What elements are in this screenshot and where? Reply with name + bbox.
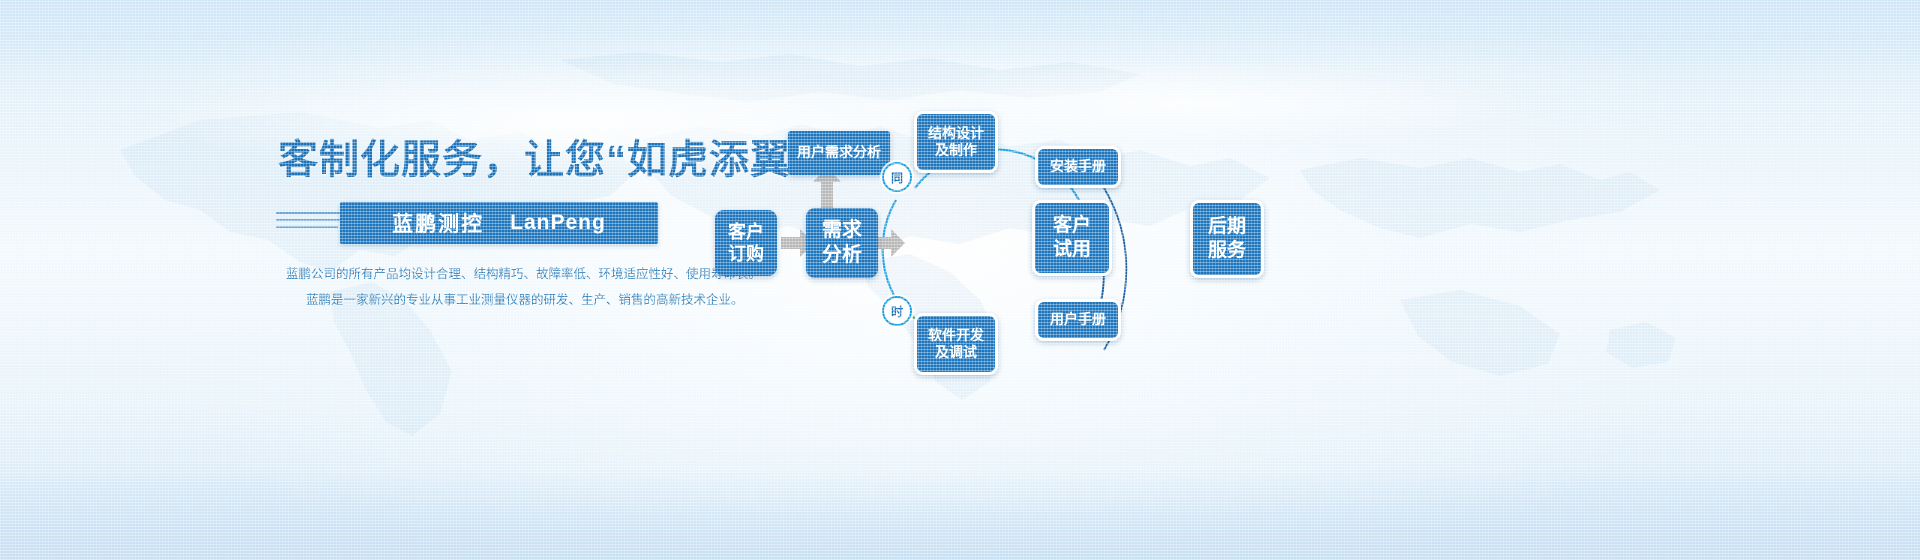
node-label-line2: 试用 bbox=[1053, 238, 1091, 262]
node-label-line2: 及调试 bbox=[935, 344, 977, 362]
bottom-gradient-overlay bbox=[0, 470, 1920, 560]
node-label-line2: 订购 bbox=[728, 243, 764, 266]
node-label-line2: 服务 bbox=[1208, 239, 1246, 263]
brand-bar: 蓝鹏测控 LanPeng bbox=[340, 202, 658, 244]
node-label-line1: 软件开发 bbox=[928, 327, 984, 345]
node-requirement-analysis[interactable]: 需求 分析 bbox=[806, 208, 878, 278]
badge-label: 同 bbox=[891, 169, 903, 186]
badge-tong: 同 bbox=[882, 162, 912, 192]
subtitle-line-2: 蓝鹏是一家新兴的专业从事工业测量仪器的研发、生产、销售的高新技术企业。 bbox=[306, 288, 698, 314]
brand-name-en: LanPeng bbox=[510, 211, 606, 235]
node-label-line1: 客户 bbox=[728, 221, 764, 244]
node-after-service[interactable]: 后期 服务 bbox=[1190, 200, 1264, 278]
node-customer-order[interactable]: 客户 订购 bbox=[715, 210, 777, 276]
node-label-line2: 分析 bbox=[822, 243, 862, 268]
node-customer-trial[interactable]: 客户 试用 bbox=[1032, 200, 1112, 276]
node-user-requirement-analysis[interactable]: 用户需求分析 bbox=[788, 131, 890, 175]
node-label-line1: 结构设计 bbox=[928, 125, 984, 143]
node-label-line1: 需求 bbox=[822, 218, 862, 243]
node-label: 用户需求分析 bbox=[797, 144, 881, 162]
badge-label: 时 bbox=[891, 303, 903, 320]
node-label-line1: 客户 bbox=[1053, 214, 1091, 238]
node-software-development[interactable]: 软件开发 及调试 bbox=[914, 313, 998, 375]
brand-bar-wrapper: 蓝鹏测控 LanPeng bbox=[278, 202, 698, 244]
node-user-manual[interactable]: 用户手册 bbox=[1035, 299, 1121, 341]
node-label-line1: 后期 bbox=[1208, 215, 1246, 239]
promo-banner: 客制化服务，让您“如虎添翼” 蓝鹏测控 LanPeng 蓝鹏公司的所有产品均设计… bbox=[0, 0, 1920, 560]
headline-block: 客制化服务，让您“如虎添翼” 蓝鹏测控 LanPeng 蓝鹏公司的所有产品均设计… bbox=[278, 138, 698, 313]
node-label-line2: 及制作 bbox=[935, 142, 977, 160]
node-label: 用户手册 bbox=[1050, 311, 1106, 329]
page-title: 客制化服务，让您“如虎添翼” bbox=[278, 138, 698, 182]
subtitle-line-1: 蓝鹏公司的所有产品均设计合理、结构精巧、故障率低、环境适应性好、使用寿命长。 bbox=[286, 262, 698, 288]
node-structure-design[interactable]: 结构设计 及制作 bbox=[914, 111, 998, 173]
badge-shi: 时 bbox=[882, 296, 912, 326]
brand-name-cn: 蓝鹏测控 bbox=[392, 208, 484, 238]
node-installation-manual[interactable]: 安装手册 bbox=[1035, 146, 1121, 188]
node-label: 安装手册 bbox=[1050, 158, 1106, 176]
process-flow-diagram: 用户需求分析 客户 订购 需求 分析 结构设计 及制作 软件开发 及调试 安装手… bbox=[700, 88, 1300, 408]
